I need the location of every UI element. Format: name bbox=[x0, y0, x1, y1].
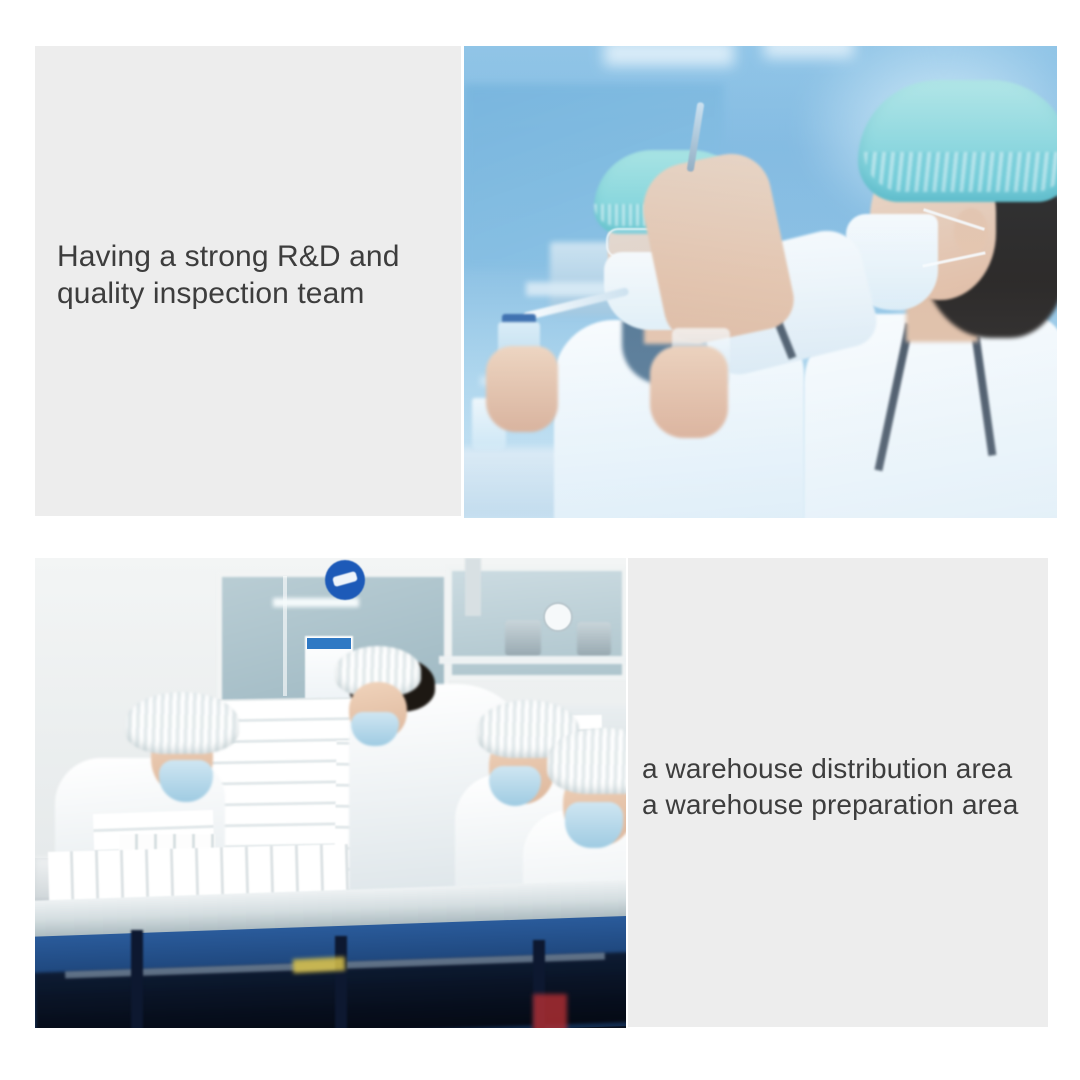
lower-hand bbox=[650, 346, 728, 438]
bottom-caption-text: a warehouse distribution area a warehous… bbox=[642, 751, 1052, 823]
table-leg-1 bbox=[131, 930, 143, 1028]
blue-circular-sign-icon bbox=[325, 560, 365, 600]
technician2-hairnet bbox=[858, 80, 1057, 202]
worker-right-hairnet bbox=[547, 728, 626, 794]
red-item-under-table bbox=[533, 994, 567, 1028]
yellow-floor-marking bbox=[293, 957, 346, 974]
page-root: Having a strong R&D and quality inspecti… bbox=[0, 0, 1080, 1080]
warehouse-packing-photo bbox=[35, 558, 626, 1028]
window-mullion bbox=[283, 576, 287, 696]
ceiling-light bbox=[604, 46, 734, 66]
worker-left-hairnet bbox=[125, 692, 239, 754]
worker-right-face-mask bbox=[565, 802, 623, 848]
top-caption-text: Having a strong R&D and quality inspecti… bbox=[57, 238, 452, 312]
ceiling-light-secondary bbox=[764, 46, 854, 58]
ceiling-duct bbox=[465, 558, 481, 616]
lab-inspection-photo bbox=[464, 46, 1057, 518]
table-leg-2 bbox=[335, 936, 347, 1028]
stainless-container-2 bbox=[577, 622, 611, 656]
hand-holding-vial bbox=[486, 346, 558, 432]
wall-clock-icon bbox=[543, 602, 573, 632]
technician2-ear bbox=[954, 208, 988, 254]
